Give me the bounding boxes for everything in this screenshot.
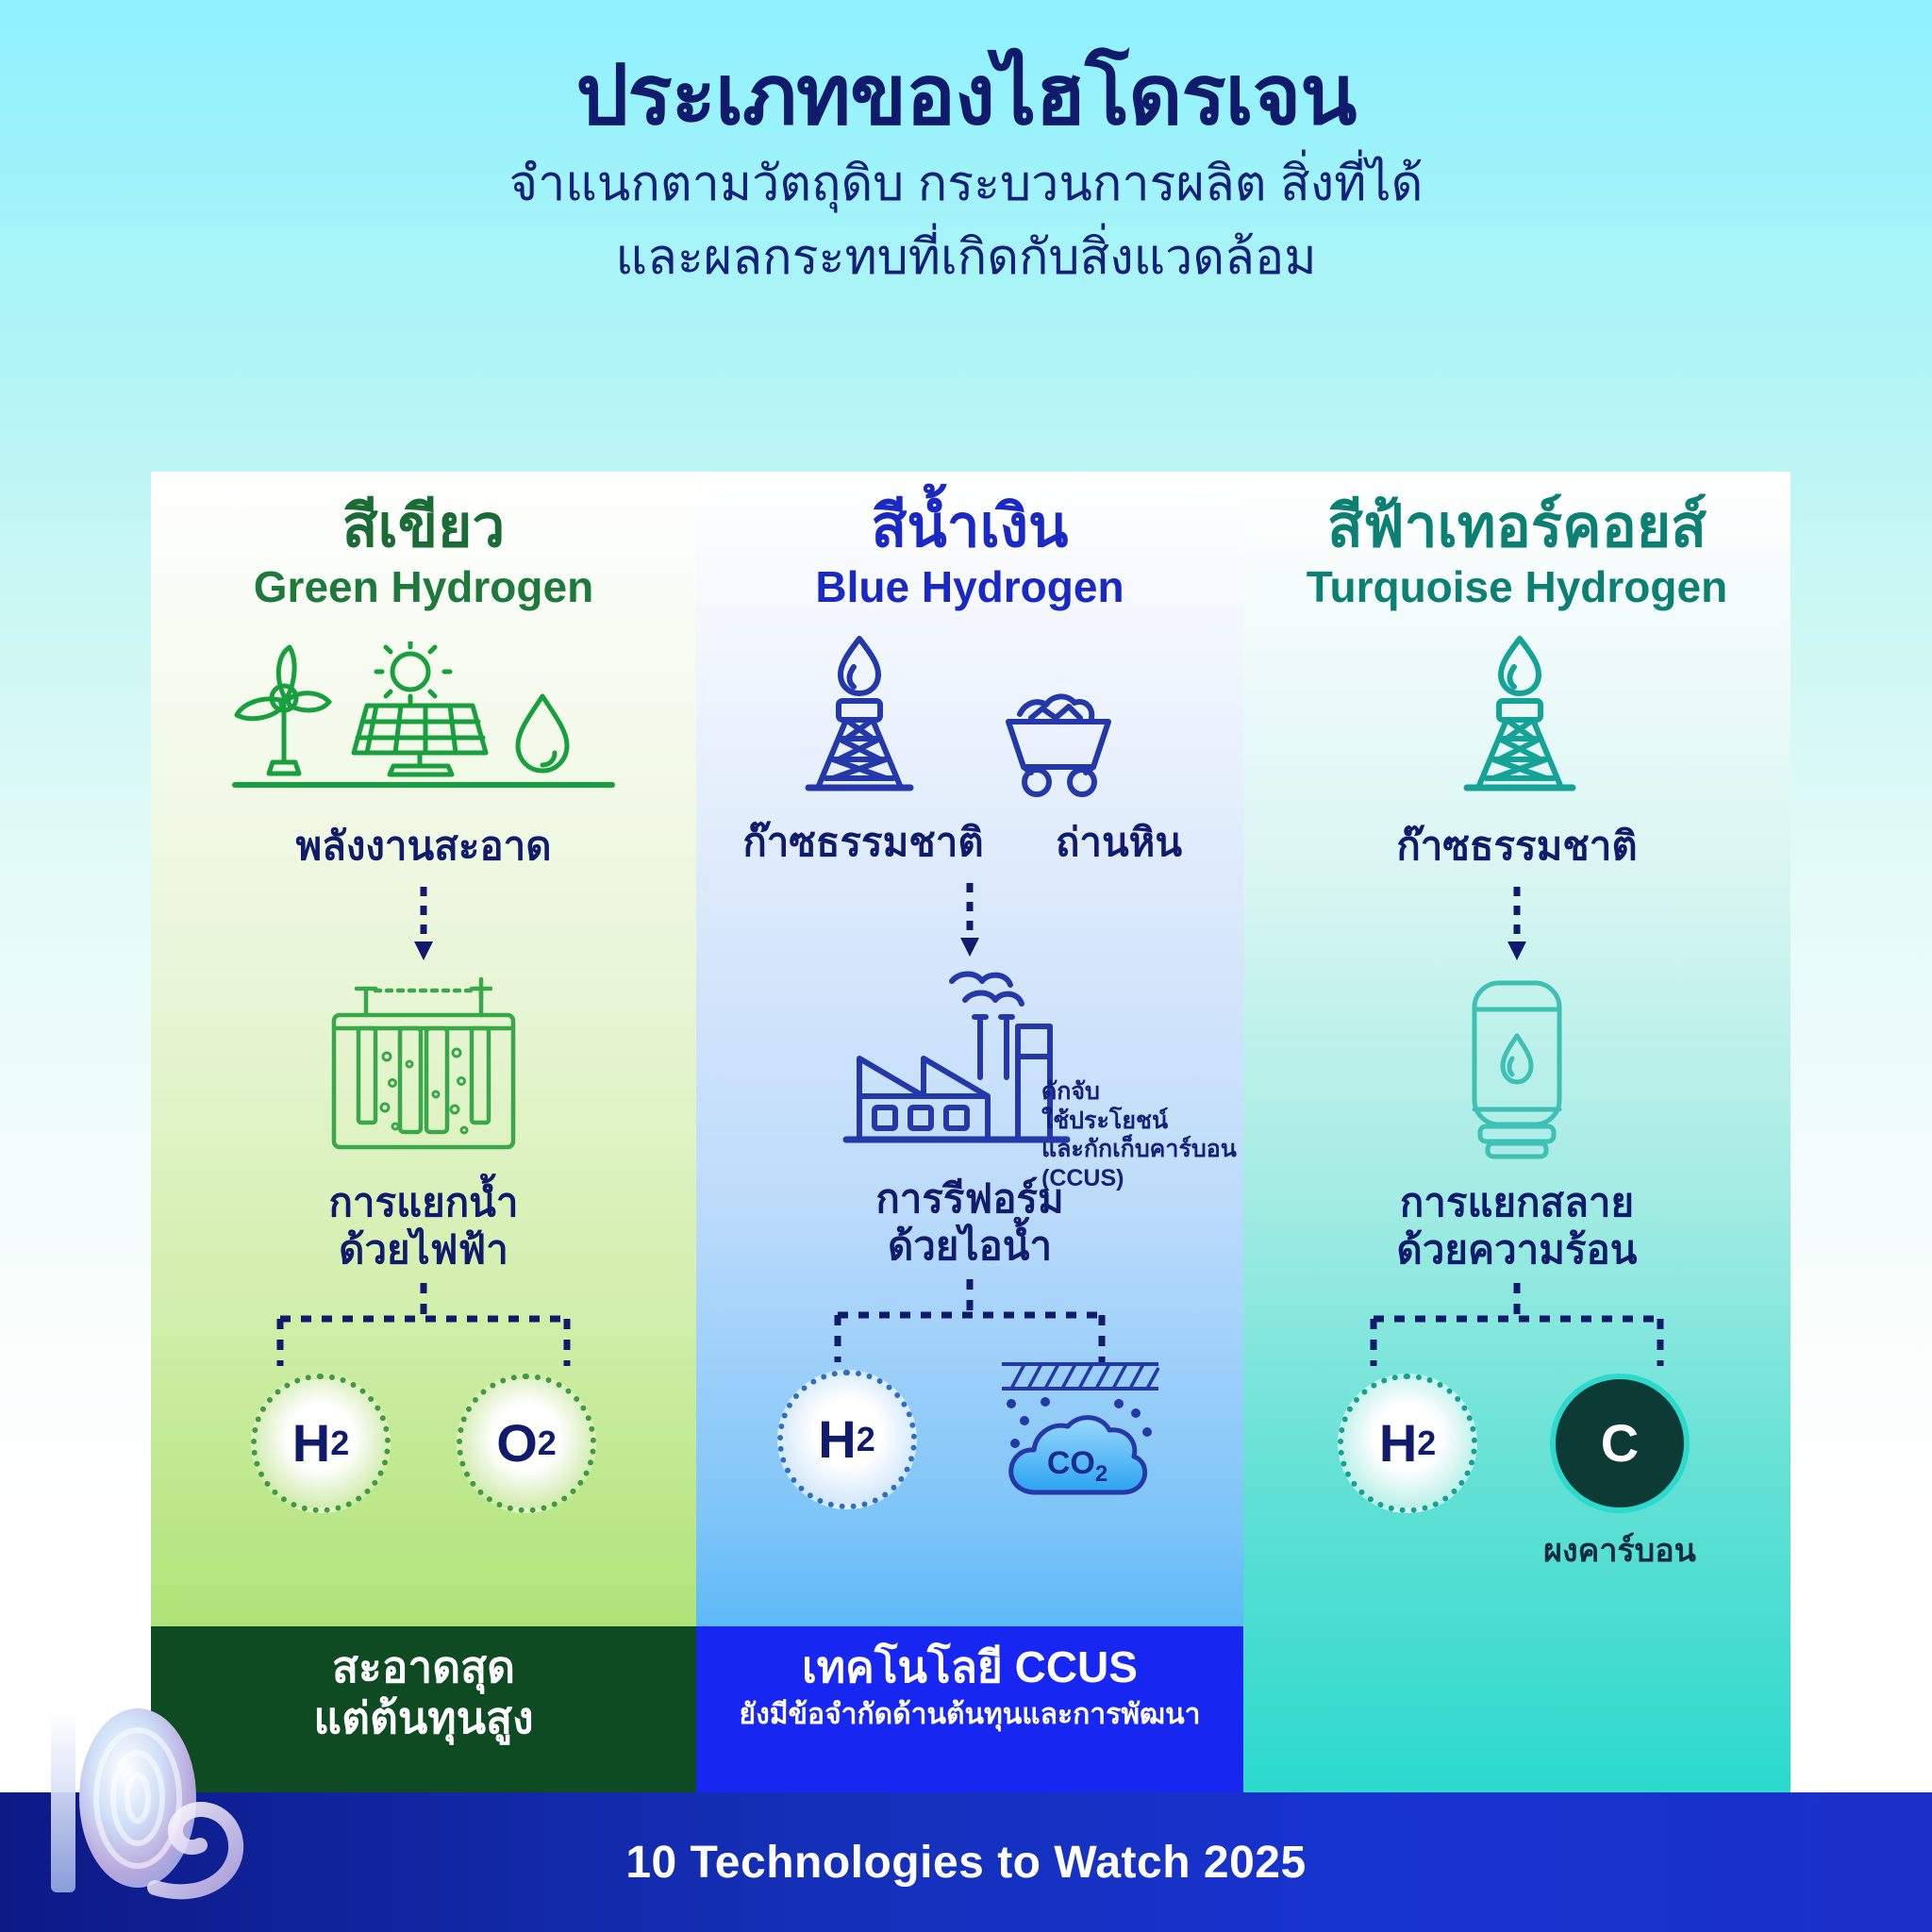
branch-split-icon: [1319, 1283, 1715, 1370]
turquoise-process-line2: ด้วยความร้อน: [1243, 1226, 1790, 1274]
output-h2-formula: H: [818, 1408, 856, 1470]
gas-rig-flare-icon: [1408, 627, 1625, 811]
output-o2-formula: O: [496, 1412, 538, 1474]
green-arrow-1: [151, 885, 696, 964]
page-header: ประเภทของไฮโดรเจน จำแนกตามวัตถุดิบ กระบว…: [0, 0, 1932, 291]
turquoise-source-label: ก๊าซธรรมชาติ: [1243, 824, 1790, 868]
green-branch-connector: [151, 1283, 696, 1370]
output-h2-formula: H: [292, 1412, 330, 1474]
green-process-icon: [151, 970, 696, 1168]
ccus-line3: และกักเก็บคาร์บอน: [1041, 1135, 1237, 1164]
page-title: ประเภทของไฮโดรเจน: [0, 49, 1932, 142]
turquoise-process-line1: การแยกสลาย: [1243, 1179, 1790, 1226]
output-h2-subscript: 2: [1417, 1424, 1436, 1463]
blue-source-icons: [696, 632, 1243, 811]
green-footer-line2: แต่ต้นทุนสูง: [158, 1692, 689, 1743]
turquoise-outputs: H2 C ผงคาร์บอน: [1243, 1374, 1790, 1575]
blue-column-header: สีน้ำเงิน Blue Hydrogen: [696, 472, 1243, 613]
output-carbon-formula: C: [1601, 1412, 1639, 1474]
branch-split-icon: [225, 1283, 622, 1370]
blue-footer: เทคโนโลยี CCUS ยังมีข้อจำกัดด้านต้นทุนแล…: [696, 1626, 1243, 1792]
turquoise-column-header: สีฟ้าเทอร์คอยส์ Turquoise Hydrogen: [1243, 472, 1790, 613]
turquoise-process-label: การแยกสลาย ด้วยความร้อน: [1243, 1179, 1790, 1273]
blue-footer-line1: เทคโนโลยี CCUS: [704, 1641, 1236, 1692]
output-o2-bubble-green: O2: [457, 1374, 596, 1513]
green-source-icons: [151, 632, 696, 811]
blue-outputs: H2: [696, 1370, 1243, 1513]
co2-cloud-storage-icon: CO2: [998, 1353, 1163, 1513]
blue-title-english: Blue Hydrogen: [696, 561, 1243, 613]
electrolyzer-icon: [306, 970, 541, 1168]
green-column-header: สีเขียว Green Hydrogen: [151, 472, 696, 613]
blue-process-line2: ด้วยไอน้ำ: [696, 1223, 1243, 1270]
green-source-label: พลังงานสะอาด: [151, 824, 696, 868]
carbon-output-group: C ผงคาร์บอน: [1543, 1374, 1696, 1575]
ccus-line1: ดักจับ: [1041, 1077, 1237, 1107]
output-h2-formula: H: [1379, 1412, 1417, 1474]
page-subtitle-line1: จำแนกตามวัตถุดิบ กระบวนการผลิต สิ่งที่ได…: [0, 152, 1932, 217]
output-h2-bubble-blue: H2: [777, 1370, 917, 1509]
page-subtitle-line2: และผลกระทบที่เกิดกับสิ่งแวดล้อม: [0, 225, 1932, 291]
output-o2-subscript: 2: [538, 1424, 557, 1463]
green-footer-line1: สะอาดสุด: [158, 1641, 689, 1692]
turquoise-arrow-1: [1243, 885, 1790, 964]
column-turquoise-hydrogen: สีฟ้าเทอร์คอยส์ Turquoise Hydrogen ก๊าซธ…: [1243, 472, 1790, 1792]
blue-arrow-1: [696, 881, 1243, 960]
output-h2-subscript: 2: [857, 1420, 875, 1459]
arrow-down-icon: [958, 881, 982, 960]
turquoise-title-thai: สีฟ้าเทอร์คอยส์: [1243, 496, 1790, 558]
green-process-line1: การแยกน้ำ: [151, 1179, 696, 1226]
ccus-line4: (CCUS): [1041, 1164, 1237, 1193]
green-footer: สะอาดสุด แต่ต้นทุนสูง: [151, 1626, 696, 1792]
column-blue-hydrogen: สีน้ำเงิน Blue Hydrogen: [696, 472, 1243, 1792]
turquoise-title-english: Turquoise Hydrogen: [1243, 561, 1790, 613]
turquoise-branch-connector: [1243, 1283, 1790, 1370]
green-outputs: H2 O2: [151, 1374, 696, 1513]
column-green-hydrogen: สีเขียว Green Hydrogen: [151, 472, 696, 1792]
wind-turbine-solar-panel-water-drop-icon: [225, 641, 622, 811]
output-h2-subscript: 2: [330, 1424, 349, 1463]
green-title-english: Green Hydrogen: [151, 561, 696, 613]
turquoise-process-icon: [1243, 970, 1790, 1168]
pyrolysis-reactor-icon: [1437, 968, 1597, 1171]
blue-source-labels: ก๊าซธรรมชาติ ถ่านหิน: [696, 811, 1243, 864]
output-carbon-bubble: C: [1550, 1374, 1690, 1513]
co2-capture-group: CO2: [998, 1353, 1163, 1513]
bottom-bar: 10 Technologies to Watch 2025: [0, 1792, 1932, 1932]
bottom-bar-text: 10 Technologies to Watch 2025: [625, 1837, 1306, 1889]
blue-title-thai: สีน้ำเงิน: [696, 496, 1243, 558]
arrow-down-icon: [1505, 885, 1529, 964]
carbon-black-label: ผงคาร์บอน: [1543, 1524, 1696, 1575]
turquoise-source-icons: [1243, 632, 1790, 811]
output-h2-bubble-green: H2: [251, 1374, 391, 1513]
green-process-label: การแยกน้ำ ด้วยไฟฟ้า: [151, 1179, 696, 1273]
ccus-annotation: ดักจับ ใช้ประโยชน์ และกักเก็บคาร์บอน (CC…: [1041, 1077, 1237, 1192]
output-h2-bubble-turquoise: H2: [1338, 1374, 1477, 1513]
hydrogen-type-columns: สีเขียว Green Hydrogen: [151, 472, 1790, 1792]
ccus-line2: ใช้ประโยชน์: [1041, 1107, 1237, 1136]
blue-source-label-coal: ถ่านหิน: [1029, 821, 1208, 864]
green-title-thai: สีเขียว: [151, 496, 696, 558]
blue-footer-line2: ยังมีข้อจำกัดด้านต้นทุนและการพัฒนา: [704, 1698, 1236, 1732]
gas-rig-and-coal-cart-icon: [748, 627, 1191, 811]
green-process-line2: ด้วยไฟฟ้า: [151, 1226, 696, 1274]
arrow-down-icon: [411, 885, 436, 964]
blue-source-label-natural-gas: ก๊าซธรรมชาติ: [731, 821, 995, 864]
